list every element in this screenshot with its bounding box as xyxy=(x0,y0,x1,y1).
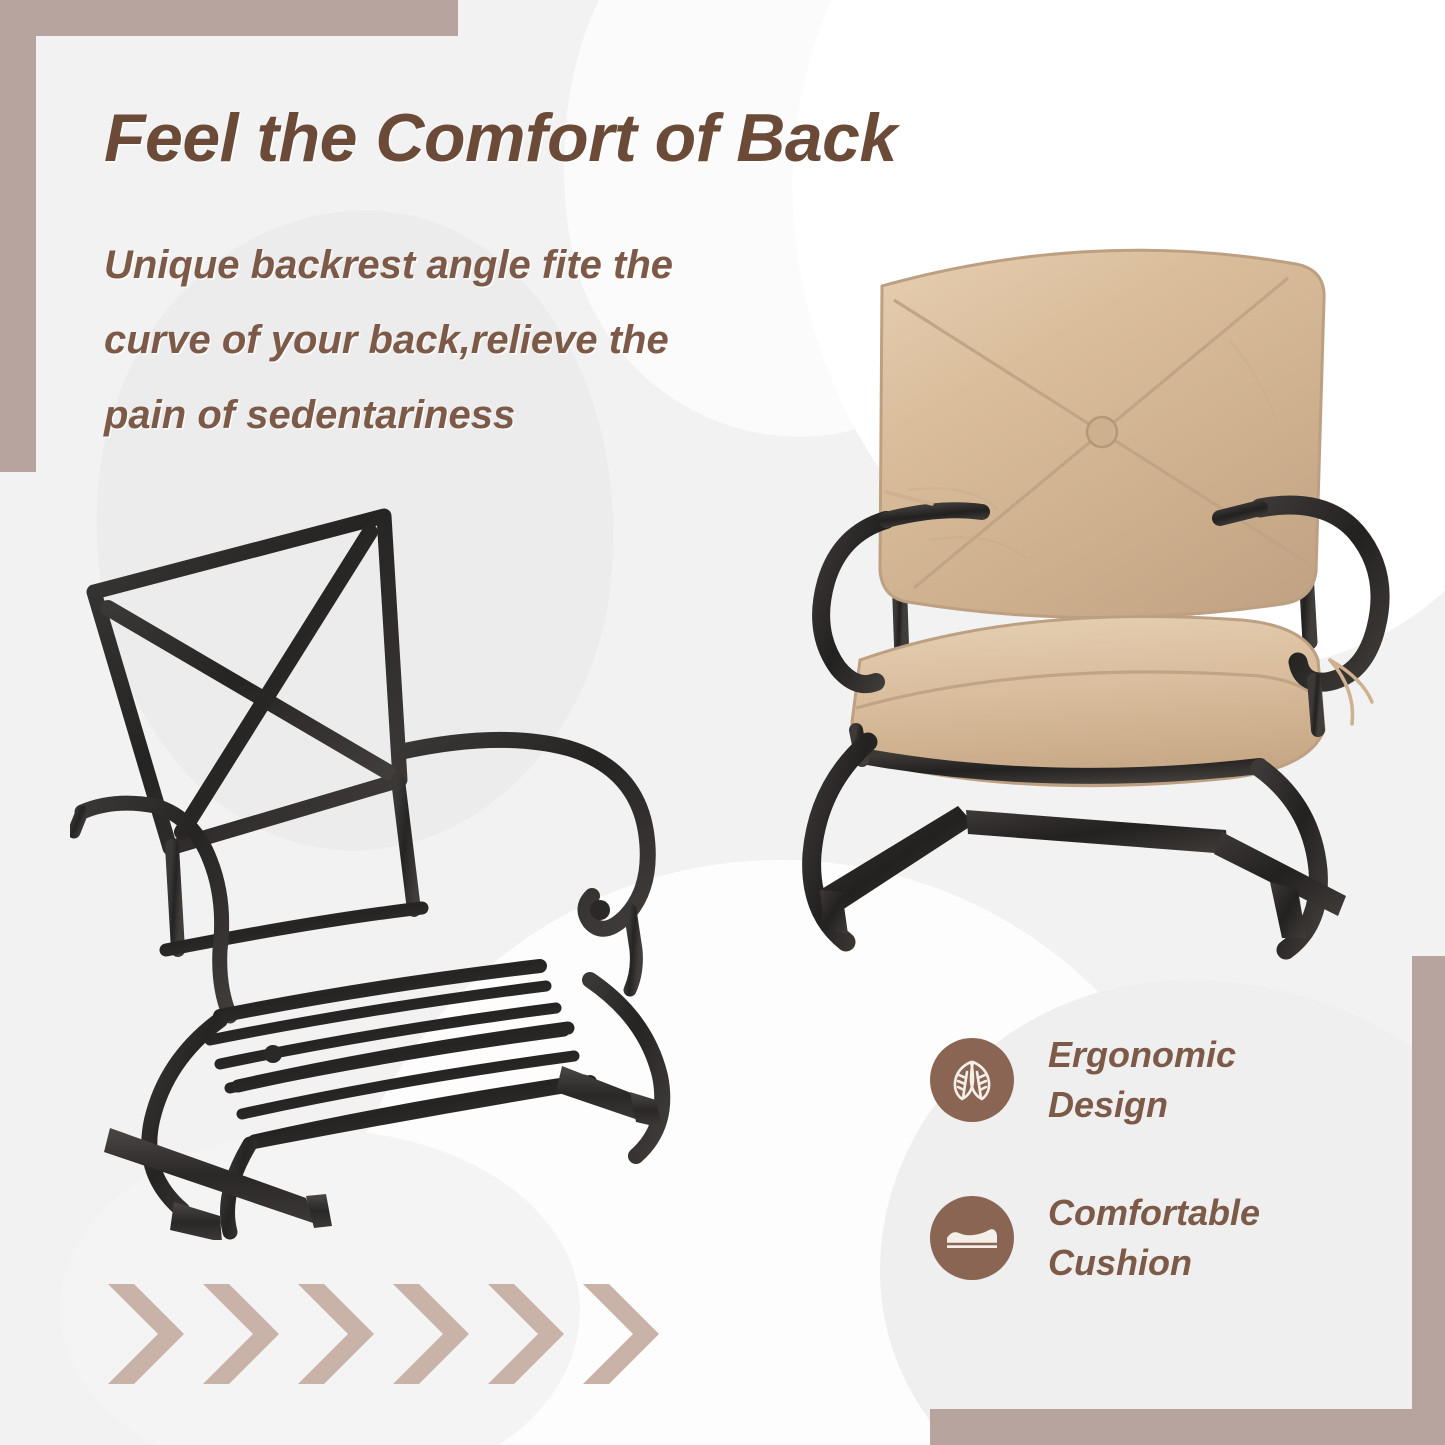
subtitle-text: Unique backrest angle fite the curve of … xyxy=(104,228,864,453)
corner-frame-bottom-right-horizontal xyxy=(930,1409,1445,1445)
back-cushion xyxy=(880,250,1324,617)
chevron-arrow-row xyxy=(104,1282,663,1386)
corner-frame-top-left-vertical xyxy=(0,0,36,472)
subtitle-line-2: curve of your back,relieve the xyxy=(104,303,864,378)
product-image-chair-frame xyxy=(70,480,710,1240)
page-title: Feel the Comfort of Back xyxy=(104,104,897,172)
foot-rail-left xyxy=(820,806,974,914)
feature-item-comfortable-cushion: Comfortable Cushion xyxy=(930,1188,1260,1288)
product-feature-banner: Feel the Comfort of Back Unique backrest… xyxy=(0,0,1445,1445)
chevron-right-icon xyxy=(294,1282,378,1386)
chevron-right-icon xyxy=(199,1282,283,1386)
feature-item-ergonomic-design: Ergonomic Design xyxy=(930,1030,1260,1130)
corner-frame-top-left-horizontal xyxy=(0,0,458,36)
feature-list: Ergonomic Design Comfortable Cushion xyxy=(930,1030,1260,1346)
stretcher-bar xyxy=(966,810,1228,854)
subtitle-line-3: pain of sedentariness xyxy=(104,378,864,453)
chevron-right-icon xyxy=(104,1282,188,1386)
leaf-icon xyxy=(944,1052,1000,1108)
feature-label-cushion: Comfortable Cushion xyxy=(1048,1188,1260,1288)
chevron-right-icon xyxy=(579,1282,663,1386)
corner-frame-bottom-right-vertical xyxy=(1412,956,1445,1445)
badge-circle-ergonomic xyxy=(930,1038,1014,1122)
badge-circle-cushion xyxy=(930,1196,1014,1280)
chevron-right-icon xyxy=(484,1282,568,1386)
product-image-chair-cushioned xyxy=(790,190,1410,980)
subtitle-line-1: Unique backrest angle fite the xyxy=(104,228,864,303)
chevron-right-icon xyxy=(389,1282,473,1386)
cushion-button xyxy=(1087,417,1117,447)
feature-label-ergonomic: Ergonomic Design xyxy=(1048,1030,1236,1130)
cushion-icon xyxy=(942,1208,1002,1268)
